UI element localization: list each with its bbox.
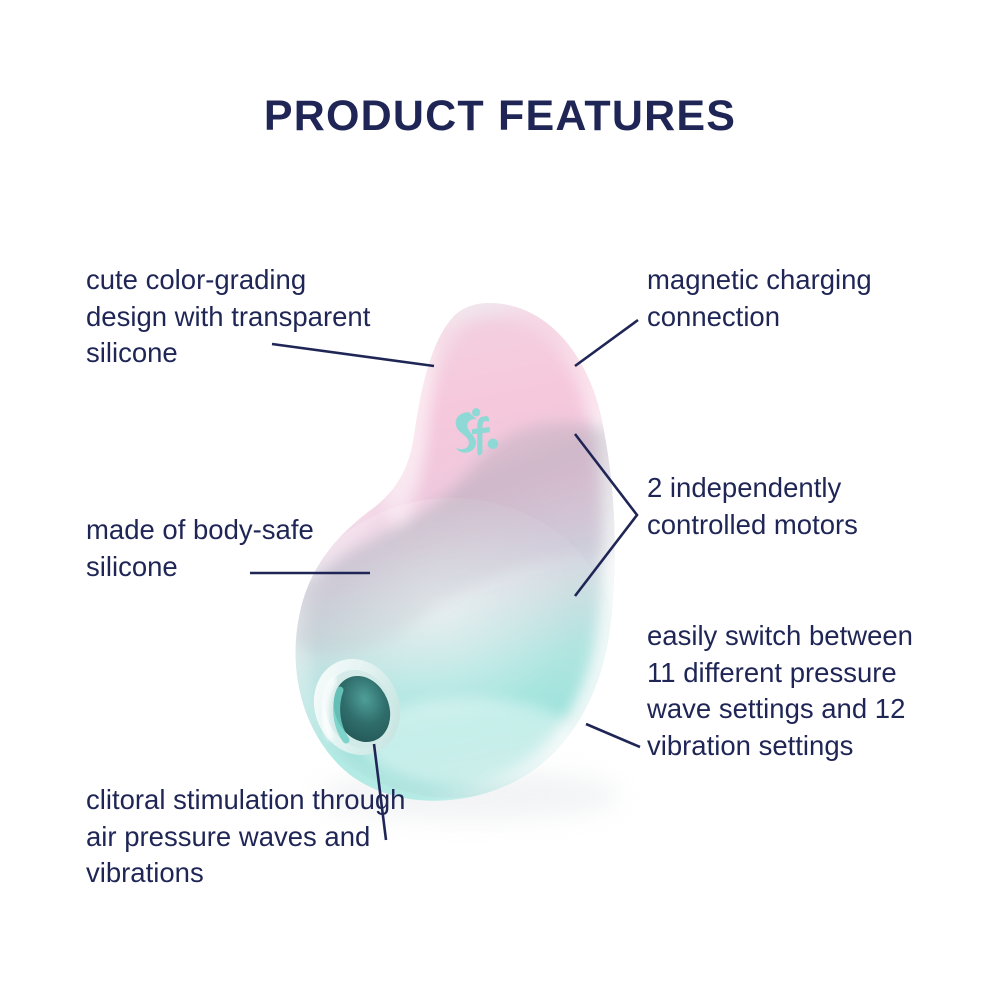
product-features-infographic: PRODUCT FEATURES (0, 0, 1000, 1000)
feature-label-controlled-motors: 2 independently controlled motors (647, 470, 927, 543)
feature-label-color-grading: cute color-grading design with transpare… (86, 262, 386, 372)
logo-dot-lower (488, 439, 499, 450)
logo-dot-upper (472, 408, 480, 416)
feature-label-clitoral-stimulation: clitoral stimulation through air pressur… (86, 782, 416, 892)
feature-label-magnetic-charging: magnetic charging connection (647, 262, 907, 335)
feature-label-pressure-vibration-settings: easily switch between 11 different press… (647, 618, 927, 764)
feature-label-body-safe-silicone: made of body-safe silicone (86, 512, 336, 585)
